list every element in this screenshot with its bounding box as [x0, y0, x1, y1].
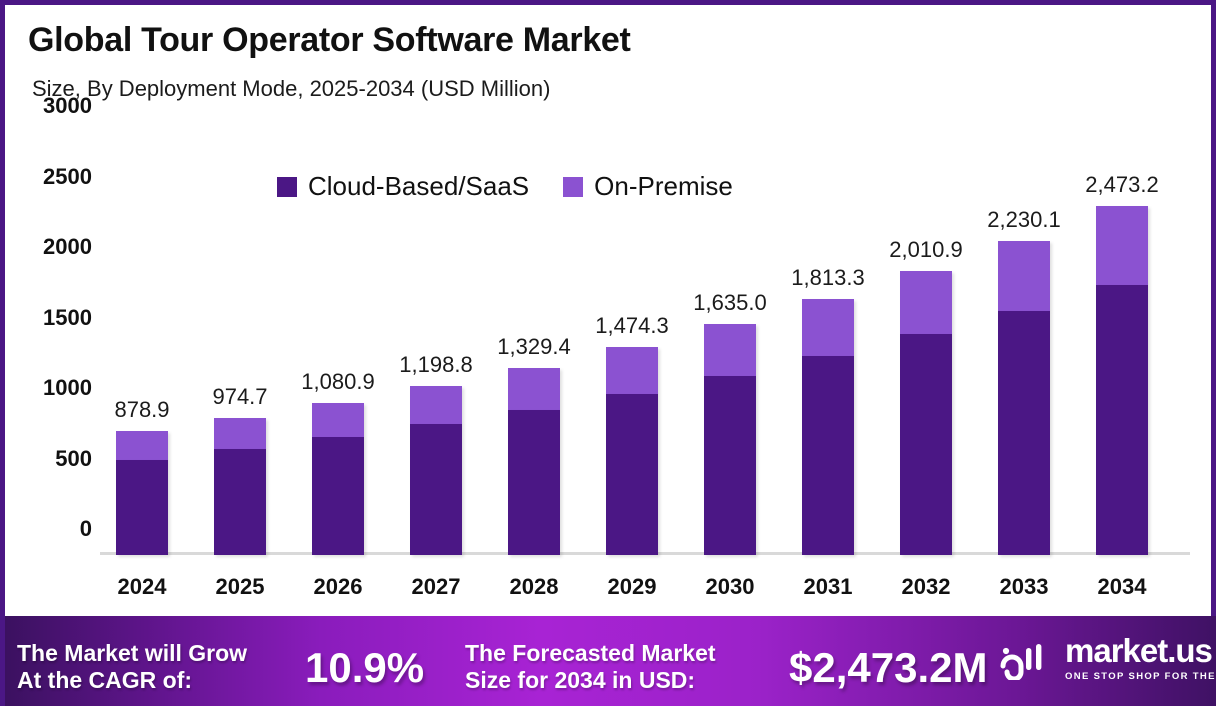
bar-segment-cloud-saas[interactable] [606, 394, 658, 555]
y-axis-tick-label: 2500 [14, 164, 92, 190]
x-axis-tick-label: 2030 [706, 574, 755, 600]
y-axis-tick-label: 3000 [14, 93, 92, 119]
bar-group-2030[interactable]: 1,635.02030 [704, 324, 756, 555]
x-axis-tick-label: 2033 [1000, 574, 1049, 600]
x-axis-tick-label: 2024 [118, 574, 167, 600]
bar-total-label: 2,010.9 [889, 237, 962, 263]
bar-segment-cloud-saas[interactable] [312, 437, 364, 555]
y-axis-tick-label: 2000 [14, 234, 92, 260]
bar-group-2027[interactable]: 1,198.82027 [410, 386, 462, 555]
plot-area: 050010001500200025003000 878.92024974.72… [100, 125, 1190, 555]
bar-segment-on-premise[interactable] [1096, 206, 1148, 285]
bar-group-2024[interactable]: 878.92024 [116, 431, 168, 555]
x-axis-tick-label: 2028 [510, 574, 559, 600]
page-title: Global Tour Operator Software Market [28, 21, 631, 60]
y-axis-tick-label: 1000 [14, 375, 92, 401]
bar-segment-on-premise[interactable] [410, 386, 462, 424]
bar-total-label: 2,473.2 [1085, 172, 1158, 198]
brand-tagline: ONE STOP SHOP FOR THE REPORTS [1065, 671, 1216, 682]
cagr-label: The Market will Grow At the CAGR of: [17, 640, 247, 694]
bar-segment-cloud-saas[interactable] [214, 449, 266, 555]
brand-name: market.us [1065, 634, 1216, 667]
bar-group-2026[interactable]: 1,080.92026 [312, 403, 364, 555]
bar-segment-cloud-saas[interactable] [802, 356, 854, 555]
bar-segment-on-premise[interactable] [802, 299, 854, 356]
x-axis-tick-label: 2027 [412, 574, 461, 600]
bar-group-2031[interactable]: 1,813.32031 [802, 299, 854, 555]
bar-total-label: 1,813.3 [791, 265, 864, 291]
bar-segment-on-premise[interactable] [900, 271, 952, 334]
bar-segment-on-premise[interactable] [214, 418, 266, 450]
bar-segment-on-premise[interactable] [508, 368, 560, 410]
y-axis-tick-label: 500 [14, 446, 92, 472]
bar-segment-on-premise[interactable] [606, 347, 658, 394]
x-axis-tick-label: 2032 [902, 574, 951, 600]
bar-segment-on-premise[interactable] [116, 431, 168, 460]
bar-total-label: 1,635.0 [693, 290, 766, 316]
market-us-logomark-icon [997, 636, 1053, 680]
bar-total-label: 1,198.8 [399, 352, 472, 378]
forecast-size-label: The Forecasted Market Size for 2034 in U… [465, 640, 716, 694]
x-axis-tick-label: 2025 [216, 574, 265, 600]
bar-group-2034[interactable]: 2,473.22034 [1096, 206, 1148, 555]
bar-segment-cloud-saas[interactable] [704, 376, 756, 555]
bar-segment-cloud-saas[interactable] [410, 424, 462, 555]
bar-segment-cloud-saas[interactable] [508, 410, 560, 555]
bar-group-2033[interactable]: 2,230.12033 [998, 241, 1050, 555]
bar-group-2025[interactable]: 974.72025 [214, 418, 266, 555]
page-subtitle: Size, By Deployment Mode, 2025-2034 (USD… [32, 76, 550, 102]
bar-total-label: 1,080.9 [301, 369, 374, 395]
x-axis-tick-label: 2026 [314, 574, 363, 600]
bar-segment-cloud-saas[interactable] [1096, 285, 1148, 555]
bar-segment-on-premise[interactable] [312, 403, 364, 438]
forecast-size-value: $2,473.2M [789, 644, 987, 692]
bar-total-label: 2,230.1 [987, 207, 1060, 233]
bar-group-2032[interactable]: 2,010.92032 [900, 271, 952, 555]
footer-banner: The Market will Grow At the CAGR of: 10.… [5, 616, 1216, 706]
market-us-logo[interactable]: market.us ONE STOP SHOP FOR THE REPORTS [997, 634, 1216, 682]
x-axis-tick-label: 2029 [608, 574, 657, 600]
x-axis-tick-label: 2034 [1098, 574, 1147, 600]
bar-group-2028[interactable]: 1,329.42028 [508, 368, 560, 555]
bar-group-2029[interactable]: 1,474.32029 [606, 347, 658, 555]
bar-segment-on-premise[interactable] [998, 241, 1050, 311]
bar-total-label: 1,329.4 [497, 334, 570, 360]
y-axis-tick-label: 0 [14, 516, 92, 542]
bar-segment-cloud-saas[interactable] [998, 311, 1050, 555]
bar-segment-cloud-saas[interactable] [116, 460, 168, 555]
cagr-value: 10.9% [305, 644, 424, 692]
bar-total-label: 1,474.3 [595, 313, 668, 339]
chart-infographic: Global Tour Operator Software Market Siz… [0, 0, 1216, 706]
bar-total-label: 878.9 [114, 397, 169, 423]
bar-segment-cloud-saas[interactable] [900, 334, 952, 555]
bar-total-label: 974.7 [212, 384, 267, 410]
x-axis-tick-label: 2031 [804, 574, 853, 600]
y-axis-tick-label: 1500 [14, 305, 92, 331]
bar-segment-on-premise[interactable] [704, 324, 756, 375]
